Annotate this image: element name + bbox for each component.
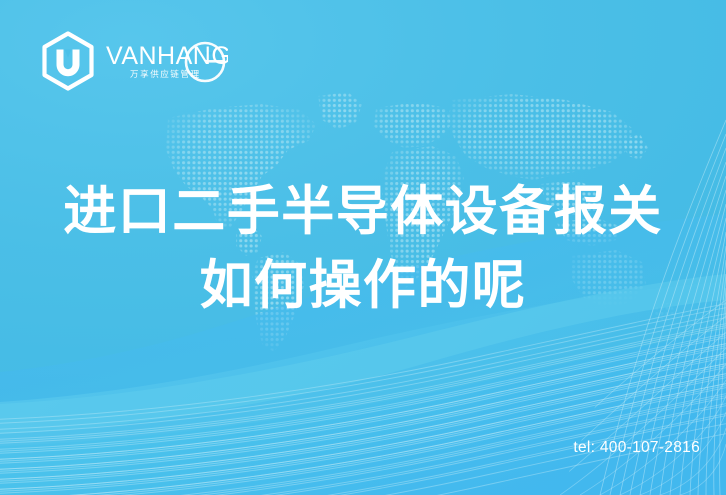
contact-phone: tel: 400-107-2816 bbox=[573, 439, 700, 457]
headline-line-2: 如何操作的呢 bbox=[0, 255, 726, 317]
poster-canvas: VANHANG 万享供应链管理 进口二手半导体设备报关 如何操作的呢 tel: … bbox=[0, 0, 726, 495]
headline-line-1: 进口二手半导体设备报关 bbox=[0, 181, 726, 243]
brand-subtitle-text: 万享供应链管理 bbox=[130, 69, 201, 79]
headline-block: 进口二手半导体设备报关 如何操作的呢 bbox=[0, 181, 726, 317]
brand-wordmark: VANHANG 万享供应链管理 bbox=[106, 30, 228, 92]
vanhang-hexagon-logo-icon bbox=[38, 30, 98, 92]
brand-logo[interactable]: VANHANG 万享供应链管理 bbox=[38, 30, 228, 92]
brand-wordmark-text: VANHANG bbox=[106, 42, 228, 70]
